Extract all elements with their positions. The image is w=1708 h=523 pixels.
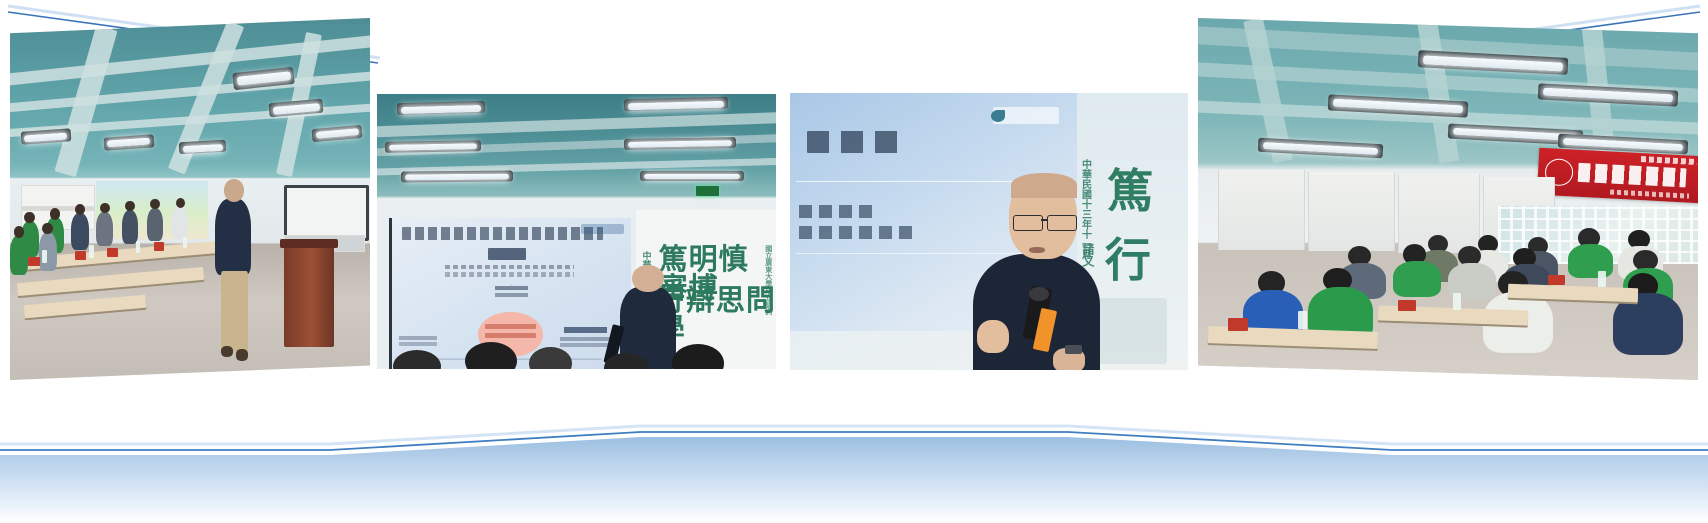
photo-2-projection-screen — [389, 218, 631, 369]
photo-classroom-wide-shot[interactable]: Instructor standing before seated partic… — [10, 18, 370, 380]
photo-3-scene: 篤 行 中華民國十三年十一月 諸又 — [790, 93, 1188, 370]
photo-1-scene: Instructor standing before seated partic… — [10, 18, 370, 380]
photo-presentation-slide-shot[interactable]: 篤明慎審博 行辯思問學 中華民國 諸又 國立廣東大學成立訓詞 Speaker w… — [377, 94, 776, 369]
bottom-band-accent-line-soft — [0, 426, 1708, 444]
photo-speaker-closeup-shot[interactable]: 篤 行 中華民國十三年十一月 諸又 — [790, 93, 1188, 370]
bottom-band-shape — [0, 437, 1708, 523]
photo-4-scene: Participants seated at tables watching t… — [1198, 18, 1698, 380]
slide-canvas: Instructor standing before seated partic… — [0, 0, 1708, 523]
photo-4-red-banner — [1537, 148, 1698, 204]
photo-2-scene: 篤明慎審博 行辯思問學 中華民國 諸又 國立廣東大學成立訓詞 Speaker w… — [377, 94, 776, 369]
photo-audience-shot[interactable]: Participants seated at tables watching t… — [1198, 18, 1698, 380]
bottom-band-accent-line — [0, 432, 1708, 450]
